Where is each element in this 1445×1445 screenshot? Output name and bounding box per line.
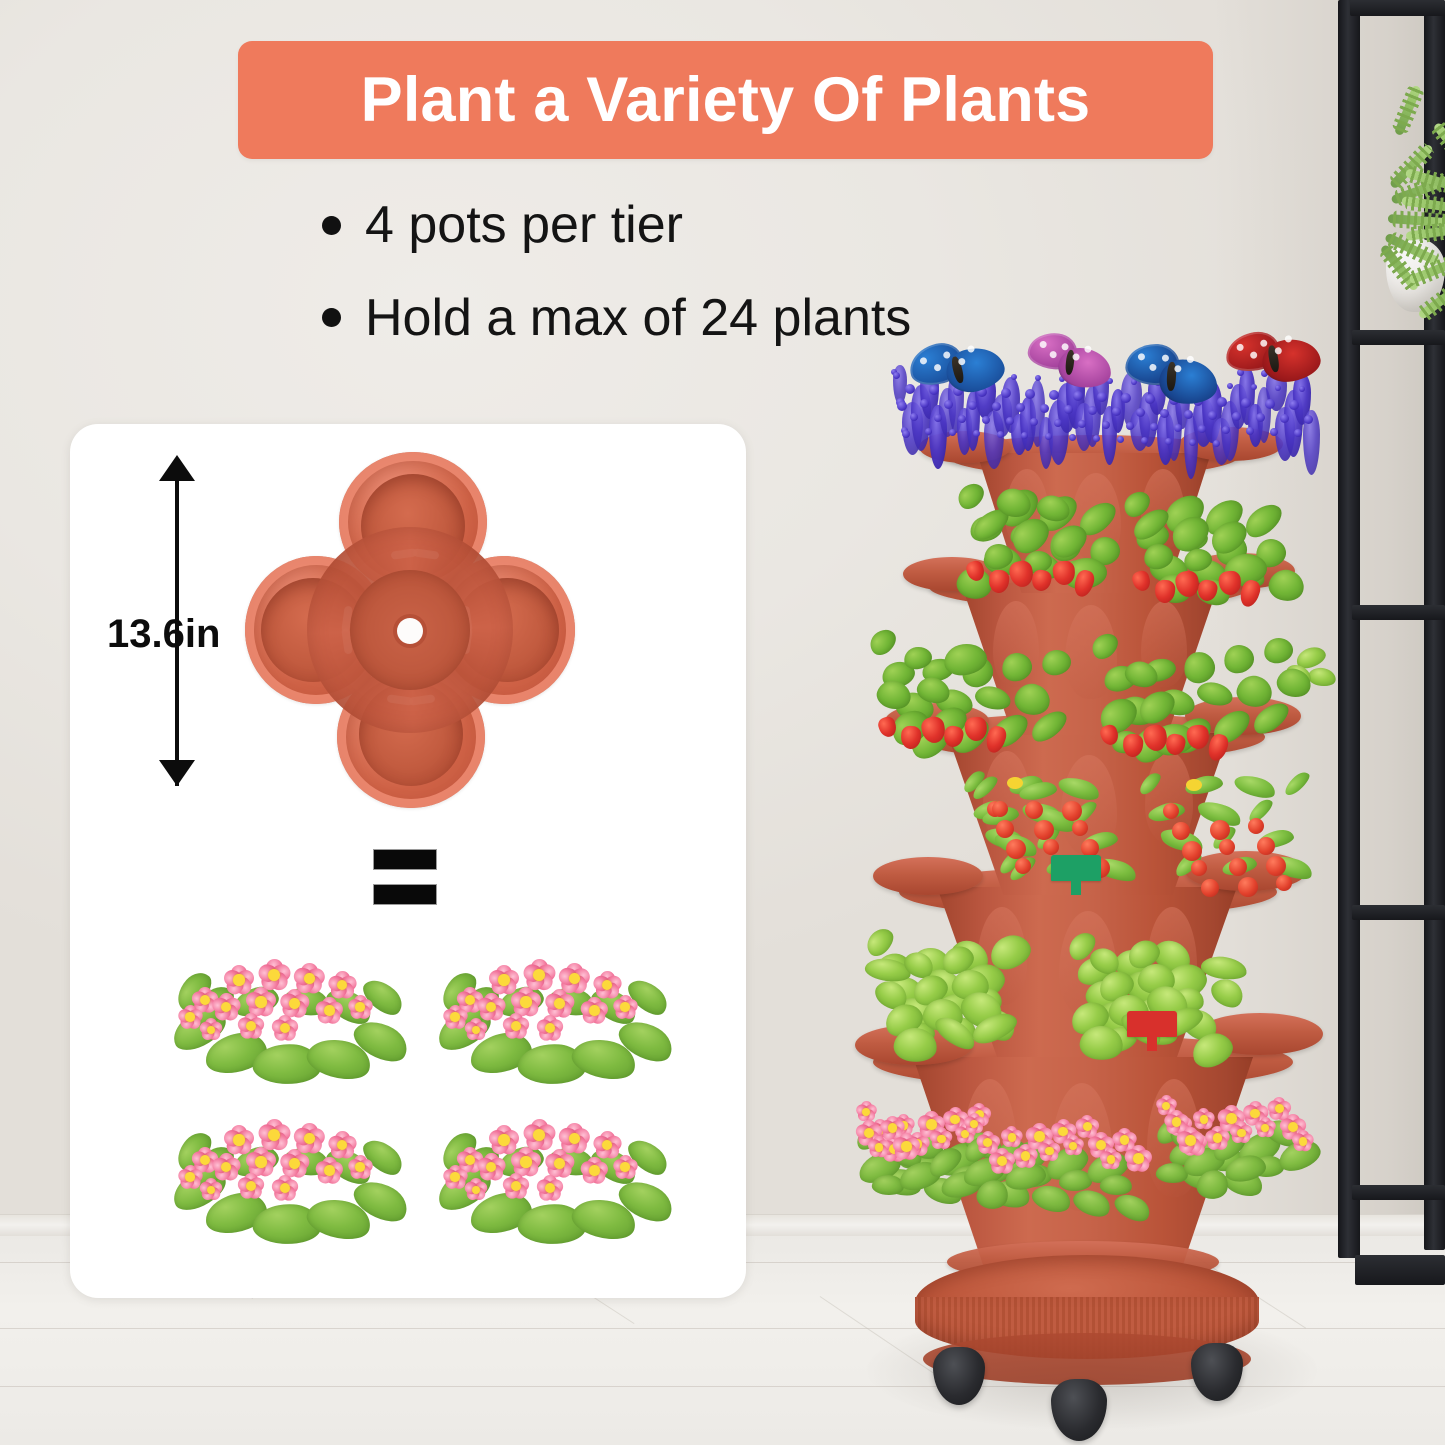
flower-center xyxy=(498,974,510,986)
basil-plant-left xyxy=(865,931,1035,1053)
flower-bloom xyxy=(347,1154,373,1180)
strawberry-leaf xyxy=(973,682,1014,713)
flower-center xyxy=(1162,1102,1170,1110)
muscari-bead xyxy=(1280,414,1289,423)
muscari-bead xyxy=(1304,415,1313,424)
flower-bloom xyxy=(271,1174,299,1202)
flower-bloom xyxy=(988,1147,1016,1175)
cherry-tomato-fruit xyxy=(1015,858,1031,874)
flower-center xyxy=(1213,1133,1222,1142)
flower-bloom xyxy=(536,1014,564,1042)
flower-center xyxy=(520,1156,532,1168)
cherry-tomato-fruit xyxy=(1182,841,1202,861)
flower-center xyxy=(246,1181,256,1191)
muscari-bead xyxy=(1064,405,1073,414)
flower-bloom xyxy=(580,1156,609,1185)
flower-center xyxy=(1200,1115,1208,1123)
flower-center xyxy=(450,1172,459,1181)
flower-center xyxy=(498,1134,510,1146)
flower-center xyxy=(970,1120,978,1128)
strawberry-fruit xyxy=(1130,569,1152,593)
muscari-bead xyxy=(1213,440,1220,447)
flower-center xyxy=(589,1165,599,1175)
cherry-tomato-fruit xyxy=(1006,839,1026,859)
flower-center xyxy=(289,998,300,1009)
flower-bloom xyxy=(1124,1144,1153,1173)
drain-hole xyxy=(397,618,423,644)
strawberry-leaf xyxy=(953,479,989,514)
primrose-plant-center xyxy=(963,1113,1159,1217)
bullet-label: Hold a max of 24 plants xyxy=(365,291,911,346)
cherry-tomato-fruit xyxy=(1276,875,1292,891)
cherry-tomato-fruit xyxy=(1072,820,1088,836)
flower-bloom xyxy=(199,1178,223,1202)
flower-center xyxy=(554,998,565,1009)
cherry-tomato-plant-left xyxy=(961,775,1127,901)
flower-center xyxy=(233,1134,245,1146)
flower-center xyxy=(1021,1151,1030,1160)
basil-plant-right xyxy=(1067,935,1253,1059)
primrose-cluster xyxy=(175,948,405,1098)
flower-center xyxy=(233,974,245,986)
flower-center xyxy=(465,995,475,1005)
tomato-leaf xyxy=(1232,771,1278,802)
flower-center xyxy=(545,1183,555,1193)
muscari-bead xyxy=(1299,386,1305,392)
muscari-bead xyxy=(992,402,1001,411)
flower-center xyxy=(875,1143,883,1151)
cherry-tomato-fruit xyxy=(1257,837,1275,855)
primrose-cluster xyxy=(440,948,670,1098)
title-banner: Plant a Variety Of Plants xyxy=(238,41,1213,159)
flower-center xyxy=(1299,1137,1307,1145)
flower-center xyxy=(1237,1129,1246,1138)
blue-butterfly-stake xyxy=(1123,343,1222,410)
cherry-tomato-fruit xyxy=(1043,839,1059,855)
flower-center xyxy=(280,1183,290,1193)
page-title: Plant a Variety Of Plants xyxy=(361,69,1091,132)
cherry-tomato-fruit xyxy=(1210,820,1230,840)
muscari-bead xyxy=(1256,413,1265,422)
muscari-bead xyxy=(1189,439,1196,446)
flower-center xyxy=(185,1012,194,1021)
strawberry-leaf xyxy=(1181,649,1217,685)
strawberry-leaf xyxy=(1274,664,1315,701)
flower-center xyxy=(465,1155,475,1165)
arrow-down-icon xyxy=(159,760,195,786)
flower-center xyxy=(355,1002,364,1011)
tomato-leaf xyxy=(1282,769,1313,799)
strawberry-leaf xyxy=(1266,566,1309,606)
cherry-tomato-fruit xyxy=(1034,820,1054,840)
stackable-planter-tower xyxy=(855,335,1325,1445)
flower-center xyxy=(246,1021,256,1031)
shelf-foot xyxy=(1355,1255,1445,1285)
flower-center xyxy=(200,1155,210,1165)
muscari-bead xyxy=(1232,412,1241,421)
cherry-tomato-fruit xyxy=(992,801,1008,817)
flower-center xyxy=(589,1005,599,1015)
strawberry-leaf xyxy=(1262,636,1295,665)
muscari-bead xyxy=(1088,406,1097,415)
flower-center xyxy=(554,1158,565,1169)
cherry-tomato-plant-right xyxy=(1137,777,1313,905)
muscari-bead xyxy=(1069,434,1076,441)
flower-center xyxy=(200,995,210,1005)
flower-bloom xyxy=(315,1156,344,1185)
primrose-cluster xyxy=(175,1108,405,1258)
flower-bloom xyxy=(464,1178,488,1202)
shelf-rail-5 xyxy=(1352,1185,1445,1200)
flower-center xyxy=(1008,1133,1016,1141)
flower-center xyxy=(937,1135,946,1144)
flower-bloom xyxy=(271,1014,299,1042)
flower-center xyxy=(355,1162,364,1171)
cherry-tomato-fruit xyxy=(1219,839,1235,855)
flower-center xyxy=(620,1162,629,1171)
cherry-tomato-fruit xyxy=(1025,801,1043,819)
cherry-tomato-fruit xyxy=(1248,818,1264,834)
muscari-bead xyxy=(893,372,900,379)
flower-bloom xyxy=(612,1154,638,1180)
clover-planter-tray xyxy=(245,452,575,808)
strawberry-plant-left xyxy=(957,485,1137,595)
flower-center xyxy=(997,1156,1007,1166)
muscari-bead xyxy=(1165,438,1172,445)
strawberry-leaf xyxy=(1000,651,1034,684)
flower-center xyxy=(1107,1155,1115,1163)
muscari-bead xyxy=(968,401,977,410)
flower-center xyxy=(289,1158,300,1169)
strawberry-plant-right xyxy=(1123,493,1309,605)
flower-bloom xyxy=(502,1012,530,1040)
flower-bloom xyxy=(502,1172,530,1200)
green-plant-tag xyxy=(1051,855,1101,881)
equals-bar-bottom xyxy=(373,884,437,905)
strawberry-fruit xyxy=(1030,568,1053,592)
muscari-bead xyxy=(1093,435,1100,442)
flower-center xyxy=(511,1181,521,1191)
muscari-bead xyxy=(1112,407,1121,416)
flower-bloom xyxy=(536,1174,564,1202)
strawberry-leaf xyxy=(1195,678,1236,709)
butterfly-wing-spot xyxy=(1137,353,1144,360)
basil-leaf xyxy=(1206,973,1248,1014)
flower-center xyxy=(450,1012,459,1021)
flower-bloom xyxy=(199,1018,223,1042)
muscari-bead xyxy=(973,430,980,437)
flower-center xyxy=(1133,1153,1143,1163)
bullet-dot-icon xyxy=(322,308,341,327)
strawberry-leaf xyxy=(865,625,901,660)
cherry-tomato-fruit xyxy=(1229,858,1247,876)
shelf-post-front xyxy=(1338,0,1360,1258)
list-item: 4 pots per tier xyxy=(322,198,1122,253)
caster-front xyxy=(1051,1379,1107,1441)
flower-bloom xyxy=(464,1018,488,1042)
flower-center xyxy=(511,1021,521,1031)
flower-bloom xyxy=(476,1152,506,1182)
flower-center xyxy=(1045,1147,1054,1156)
red-plant-tag xyxy=(1127,1011,1177,1037)
flower-center xyxy=(901,1141,911,1151)
flower-center xyxy=(1275,1104,1284,1113)
muscari-bead xyxy=(1160,409,1169,418)
cherry-tomato-fruit xyxy=(1163,803,1179,819)
primrose-plant-right xyxy=(1155,1095,1323,1197)
cherry-tomato-fruit xyxy=(1238,877,1258,897)
shelf-rail-2 xyxy=(1352,330,1445,345)
flower-bloom xyxy=(892,1132,921,1161)
butterfly-wing-spot xyxy=(1039,340,1047,348)
flower-bloom xyxy=(211,992,241,1022)
strawberry-leaf xyxy=(1239,498,1287,543)
equals-bar-top xyxy=(373,849,437,870)
flower-bloom xyxy=(237,1012,265,1040)
flower-center xyxy=(545,1023,555,1033)
strawberry-plant-lower-left xyxy=(869,631,1081,751)
shelf-rail-1 xyxy=(1350,0,1445,16)
strawberry-leaf xyxy=(1040,648,1073,677)
flower-center xyxy=(324,1165,334,1175)
muscari-bead xyxy=(1016,403,1025,412)
muscari-bead xyxy=(1021,432,1028,439)
cherry-tomato-fruit xyxy=(1191,860,1207,876)
flower-bloom xyxy=(612,994,638,1020)
flower-bloom xyxy=(580,996,609,1025)
strawberry-plant-lower-right xyxy=(1091,635,1317,759)
flower-center xyxy=(185,1172,194,1181)
muscari-bead xyxy=(925,428,932,435)
flower-bloom xyxy=(211,1152,241,1182)
muscari-bead xyxy=(1117,436,1124,443)
shelf-rail-3 xyxy=(1352,605,1445,620)
flower-bloom xyxy=(476,992,506,1022)
flower-bloom xyxy=(315,996,344,1025)
muscari-bead xyxy=(1184,410,1193,419)
muscari-bead xyxy=(1208,411,1217,420)
flower-center xyxy=(1185,1135,1195,1145)
bullet-dot-icon xyxy=(322,216,341,235)
primrose-cluster xyxy=(440,1108,670,1258)
flower-center xyxy=(520,996,532,1008)
strawberry-fruit xyxy=(988,569,1010,594)
muscari-bead xyxy=(1141,437,1148,444)
flower-center xyxy=(255,1156,267,1168)
flower-bloom xyxy=(1176,1126,1205,1155)
shelf-rail-4 xyxy=(1352,905,1445,920)
strawberry-leaf xyxy=(1222,643,1256,676)
cherry-tomato-fruit xyxy=(1201,879,1219,897)
flower-center xyxy=(862,1108,870,1116)
muscari-bead xyxy=(1011,374,1017,380)
flower-bloom xyxy=(237,1172,265,1200)
flower-center xyxy=(1083,1122,1092,1131)
tomato-leaf xyxy=(1056,773,1102,804)
pink-butterfly-stake xyxy=(1024,331,1117,394)
muscari-bead xyxy=(1040,404,1049,413)
flower-center xyxy=(620,1002,629,1011)
flower-center xyxy=(280,1023,290,1033)
flower-bloom xyxy=(347,994,373,1020)
flower-center xyxy=(255,996,267,1008)
muscari-bead xyxy=(949,429,956,436)
bullet-label: 4 pots per tier xyxy=(365,198,683,253)
flower-center xyxy=(324,1005,334,1015)
dimension-label: 13.6in xyxy=(107,612,220,657)
muscari-bead xyxy=(1045,433,1052,440)
muscari-bead xyxy=(1136,408,1145,417)
muscari-bead xyxy=(997,431,1004,438)
